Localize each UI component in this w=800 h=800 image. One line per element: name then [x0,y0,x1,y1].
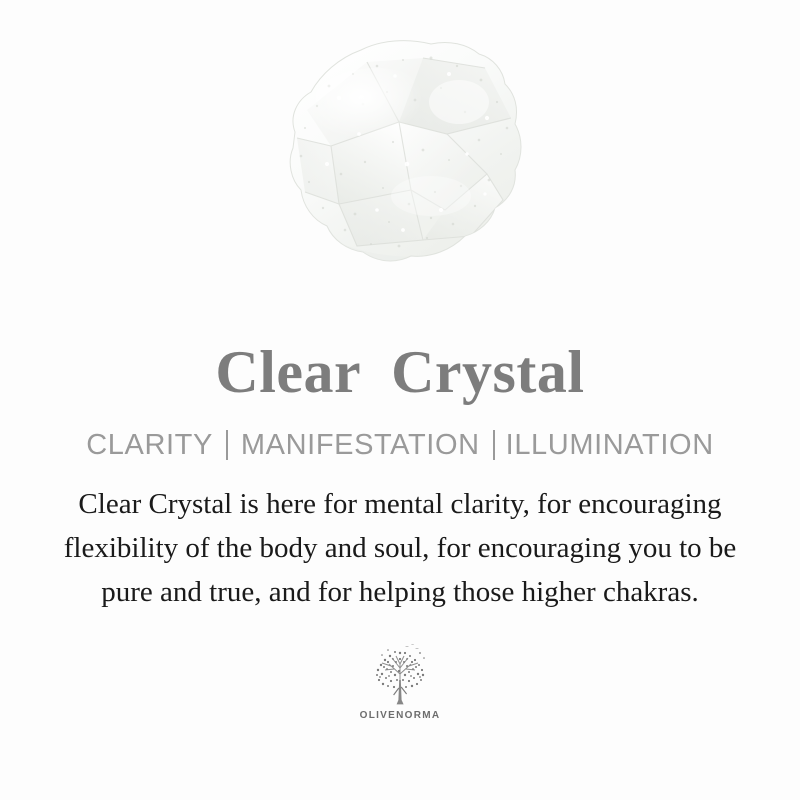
brand-name: OLIVENORMA [360,711,441,721]
keyword-illumination: ILLUMINATION [506,431,714,460]
keyword-separator [493,430,495,460]
page-title: Clear Crystal [215,300,584,402]
keyword-manifestation: MANIFESTATION [241,431,480,460]
clear-crystal-image [235,14,565,304]
brand-logo: OLIVENORMA [358,644,442,721]
olive-tree-icon [358,644,442,710]
product-description: Clear Crystal is here for mental clarity… [50,460,750,614]
crystal-image-container [0,0,800,300]
keyword-clarity: CLARITY [86,431,213,460]
keyword-list: CLARITY MANIFESTATION ILLUMINATION [86,402,713,460]
product-card: Clear Crystal CLARITY MANIFESTATION ILLU… [0,0,800,800]
keyword-separator [226,430,228,460]
